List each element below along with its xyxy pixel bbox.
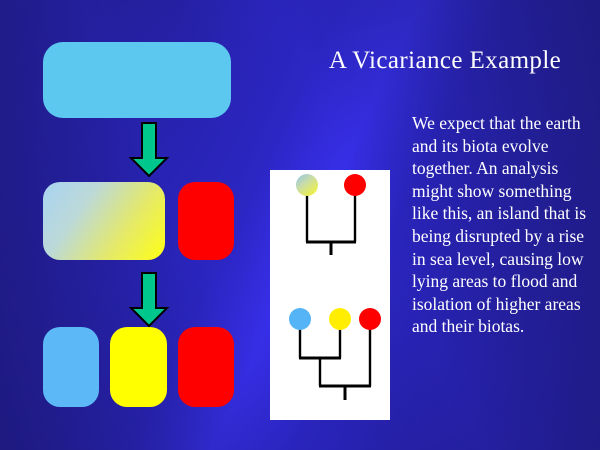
taxon-red-tip-upper bbox=[344, 174, 366, 196]
slide-canvas: A Vicariance Example We expect that the … bbox=[0, 0, 600, 450]
island-gradient-box bbox=[43, 182, 165, 260]
body-paragraph: We expect that the earth and its biota e… bbox=[412, 112, 592, 338]
down-arrow-icon bbox=[127, 272, 171, 328]
down-arrow-icon bbox=[127, 122, 171, 178]
cladogram-graphic bbox=[270, 170, 390, 420]
island-blue-box bbox=[43, 327, 99, 407]
cladogram-panel bbox=[270, 170, 390, 420]
taxon-yellow-tip bbox=[329, 308, 351, 330]
taxon-blue-tip bbox=[289, 308, 311, 330]
island-yellow-box bbox=[110, 327, 167, 407]
island-red-box-row2 bbox=[178, 182, 234, 260]
island-red-box-row3 bbox=[178, 327, 234, 407]
upper-cladogram bbox=[296, 174, 366, 255]
lower-cladogram bbox=[289, 308, 381, 400]
page-title: A Vicariance Example bbox=[300, 46, 590, 76]
island-whole-box bbox=[43, 42, 231, 118]
taxon-gradient-tip bbox=[296, 174, 318, 196]
taxon-red-tip-lower bbox=[359, 308, 381, 330]
